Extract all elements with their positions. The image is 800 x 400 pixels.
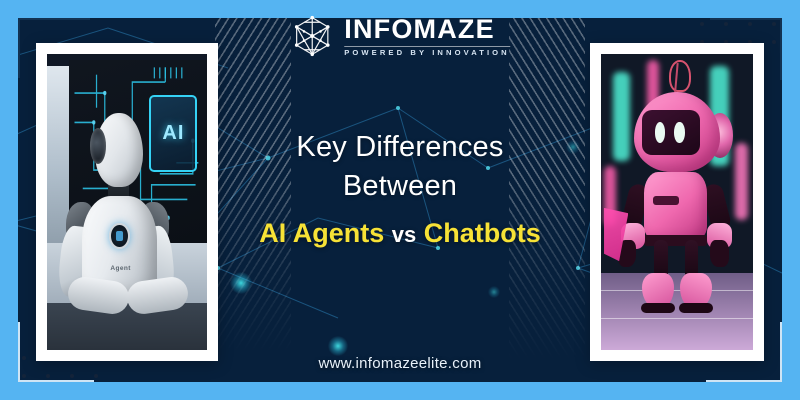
ai-agent-image: AI Agent [47,54,207,350]
headline-accent-ai-agents: AI Agents [259,218,384,248]
hexagon-network-icon [290,14,334,58]
photo-card-chatbot [590,43,764,361]
website-url[interactable]: www.infomazeelite.com [318,355,481,372]
logo-divider [344,46,510,47]
brand-logo[interactable]: INFOMAZE POWERED BY INNOVATION [290,14,510,58]
headline-block: Key Differences Between AI Agents vs Cha… [230,128,570,250]
promo-banner: AI Agent [0,0,800,400]
brand-name: INFOMAZE [344,16,510,43]
robot-chest-label: Agent [101,258,139,279]
headline-connector: vs [392,222,416,247]
ai-chip-label: AI [149,95,197,172]
headline-line-1: Key Differences [230,128,570,167]
photo-card-ai-agent: AI Agent [36,43,218,361]
headline-accent-chatbots: Chatbots [424,218,541,248]
dot-grid-top-right [700,22,776,44]
headline-line-2: Between [230,167,570,206]
headline-subject-line: AI Agents vs Chatbots [230,217,570,249]
brand-tagline: POWERED BY INNOVATION [344,49,510,57]
chatbot-image [601,54,753,350]
